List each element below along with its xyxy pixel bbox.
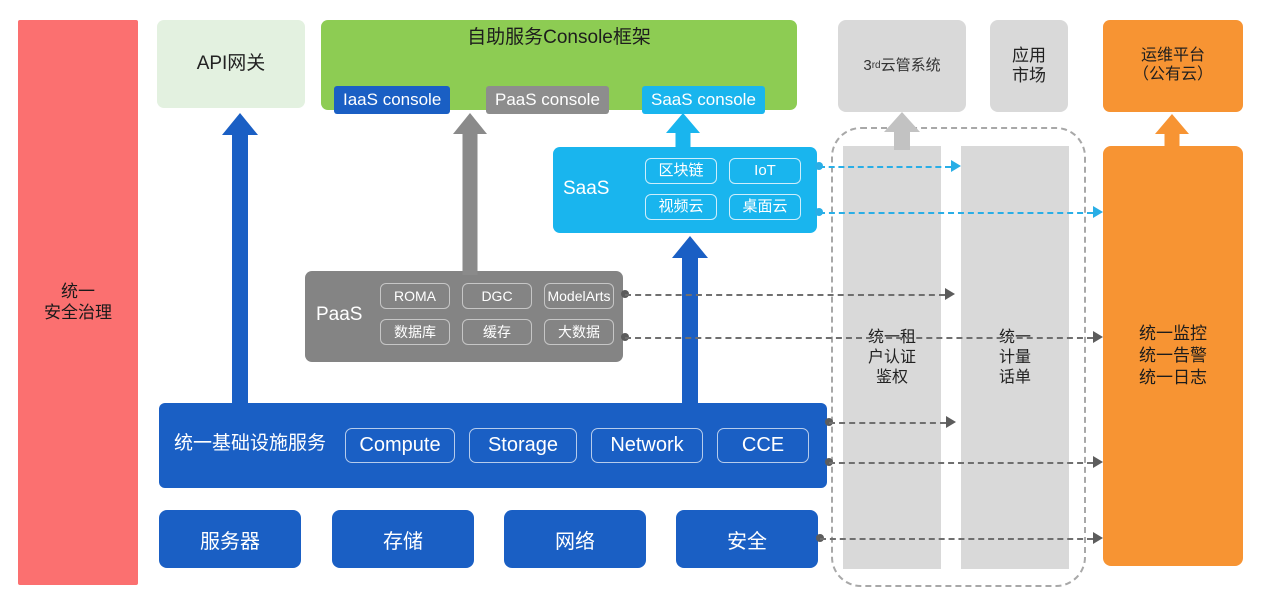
api-gateway-box[interactable]: API网关 (157, 20, 305, 108)
infra-chip-network[interactable]: Network (591, 428, 703, 463)
saas-chip-iot[interactable]: IoT (729, 158, 801, 184)
paas-chip-dgc[interactable]: DGC (462, 283, 532, 309)
infra-chip-storage[interactable]: Storage (469, 428, 577, 463)
resource-box-server[interactable]: 服务器 (159, 510, 301, 568)
dash-saas-to-metering (819, 166, 951, 168)
dash-arrowhead-infra-to-opsbar (1093, 456, 1103, 468)
paas-chip-cache[interactable]: 缓存 (462, 319, 532, 345)
shared-service-auth-column[interactable]: 统一租 户认证 鉴权 (843, 146, 941, 569)
unified-monitoring-bar[interactable]: 统一监控 统一告警 统一日志 (1103, 146, 1243, 566)
third-cloud-prefix: 3 (863, 57, 871, 75)
dash-arrowhead-resources-to-opsbar (1093, 532, 1103, 544)
dash-resources-to-opsbar (820, 538, 1093, 540)
console-frame-title: 自助服务Console框架 (321, 27, 797, 49)
ops-platform-box[interactable]: 运维平台 （公有云） (1103, 20, 1243, 112)
saas-chip-video-cloud[interactable]: 视频云 (645, 194, 717, 220)
resource-box-security[interactable]: 安全 (676, 510, 818, 568)
arrow-paas-to-console (453, 113, 487, 275)
paas-label: PaaS (316, 304, 362, 326)
arrow-saas-to-console (666, 113, 700, 151)
dash-arrowhead-paas-to-auth (945, 288, 955, 300)
paas-chip-database[interactable]: 数据库 (380, 319, 450, 345)
dash-arrowhead-saas-to-metering (951, 160, 961, 172)
dash-arrowhead-saas-to-opsbar (1093, 206, 1103, 218)
third-cloud-rest: 云管系统 (881, 57, 941, 75)
infrastructure-label: 统一基础设施服务 (174, 433, 326, 455)
dash-infra-to-opsbar (829, 462, 1093, 464)
iaas-console-chip[interactable]: IaaS console (334, 86, 450, 114)
saas-chip-desktop-cloud[interactable]: 桌面云 (729, 194, 801, 220)
infra-chip-compute[interactable]: Compute (345, 428, 455, 463)
infra-chip-cce[interactable]: CCE (717, 428, 809, 463)
arrow-infra-to-saas (672, 236, 708, 406)
paas-chip-modelarts[interactable]: ModelArts (544, 283, 614, 309)
paas-chip-roma[interactable]: ROMA (380, 283, 450, 309)
resource-box-network[interactable]: 网络 (504, 510, 646, 568)
saas-label: SaaS (563, 178, 609, 200)
app-market-box[interactable]: 应用 市场 (990, 20, 1068, 112)
paas-console-chip[interactable]: PaaS console (486, 86, 609, 114)
dash-paas-to-auth (625, 294, 945, 296)
arrow-shared-to-third-cloud (884, 112, 920, 150)
dash-arrowhead-infra-to-auth (946, 416, 956, 428)
console-frame-box[interactable]: 自助服务Console框架 IaaS console PaaS console … (321, 20, 797, 110)
paas-box[interactable]: PaaS ROMA DGC ModelArts 数据库 缓存 大数据 (305, 271, 623, 362)
resource-box-storage[interactable]: 存储 (332, 510, 474, 568)
dash-infra-to-auth (829, 422, 946, 424)
saas-box[interactable]: SaaS 区块链 IoT 视频云 桌面云 (553, 147, 817, 233)
infrastructure-bar[interactable]: 统一基础设施服务 Compute Storage Network CCE (159, 403, 827, 488)
dash-saas-to-opsbar (819, 212, 1093, 214)
arrow-infra-to-api-gateway (222, 113, 258, 405)
shared-service-metering-column[interactable]: 统一 计量 话单 (961, 146, 1069, 569)
arrow-opsbar-to-ops-platform (1155, 114, 1189, 150)
architecture-diagram: 统一 安全治理 API网关 自助服务Console框架 IaaS console… (0, 0, 1265, 605)
dash-paas-to-opsbar (625, 337, 1093, 339)
paas-chip-bigdata[interactable]: 大数据 (544, 319, 614, 345)
saas-chip-blockchain[interactable]: 区块链 (645, 158, 717, 184)
third-party-cloud-mgmt-box[interactable]: 3rd云管系统 (838, 20, 966, 112)
security-governance-column[interactable]: 统一 安全治理 (18, 20, 138, 585)
saas-console-chip[interactable]: SaaS console (642, 86, 765, 114)
dash-arrowhead-paas-to-opsbar (1093, 331, 1103, 343)
third-cloud-superscript: rd (872, 60, 881, 72)
